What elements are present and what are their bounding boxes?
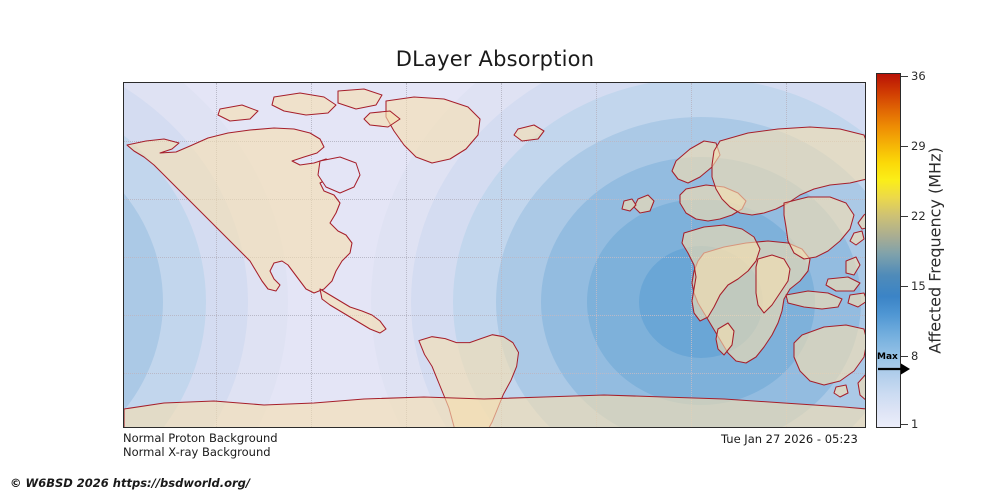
colorbar-tick-label-22: 22 — [911, 209, 926, 223]
observation-timestamp: Tue Jan 27 2026 - 05:23 — [721, 432, 858, 446]
colorbar-tick-1 — [901, 424, 908, 425]
arrow-right-icon — [877, 362, 911, 376]
colorbar-tick-36 — [901, 76, 908, 77]
colorbar-tick-label-15: 15 — [911, 279, 926, 293]
colorbar-tick-label-1: 1 — [911, 417, 918, 431]
colorbar-tick-label-36: 36 — [911, 69, 926, 83]
max-frequency-marker: Max — [877, 352, 911, 378]
colorbar-tick-22 — [901, 216, 908, 217]
copyright-footer: © W6BSD 2026 https://bsdworld.org/ — [10, 476, 250, 490]
page-title: DLayer Absorption — [0, 47, 990, 71]
map-canvas — [124, 83, 865, 427]
world-map-panel — [123, 82, 866, 428]
coastline-layer — [124, 83, 865, 427]
proton-background-status: Normal Proton Background — [123, 431, 278, 445]
colorbar-tick-15 — [901, 286, 908, 287]
max-marker-label: Max — [877, 352, 898, 362]
dlayer-absorption-map: DLayer Absorption — [0, 0, 1000, 500]
colorbar-axis-label-text: Affected Frequency (MHz) — [926, 147, 945, 353]
colorbar-tick-label-8: 8 — [911, 349, 918, 363]
colorbar-tick-29 — [901, 146, 908, 147]
colorbar-tick-label-29: 29 — [911, 139, 926, 153]
colorbar-axis-label: Affected Frequency (MHz) — [925, 73, 945, 428]
xray-background-status: Normal X-ray Background — [123, 445, 271, 459]
